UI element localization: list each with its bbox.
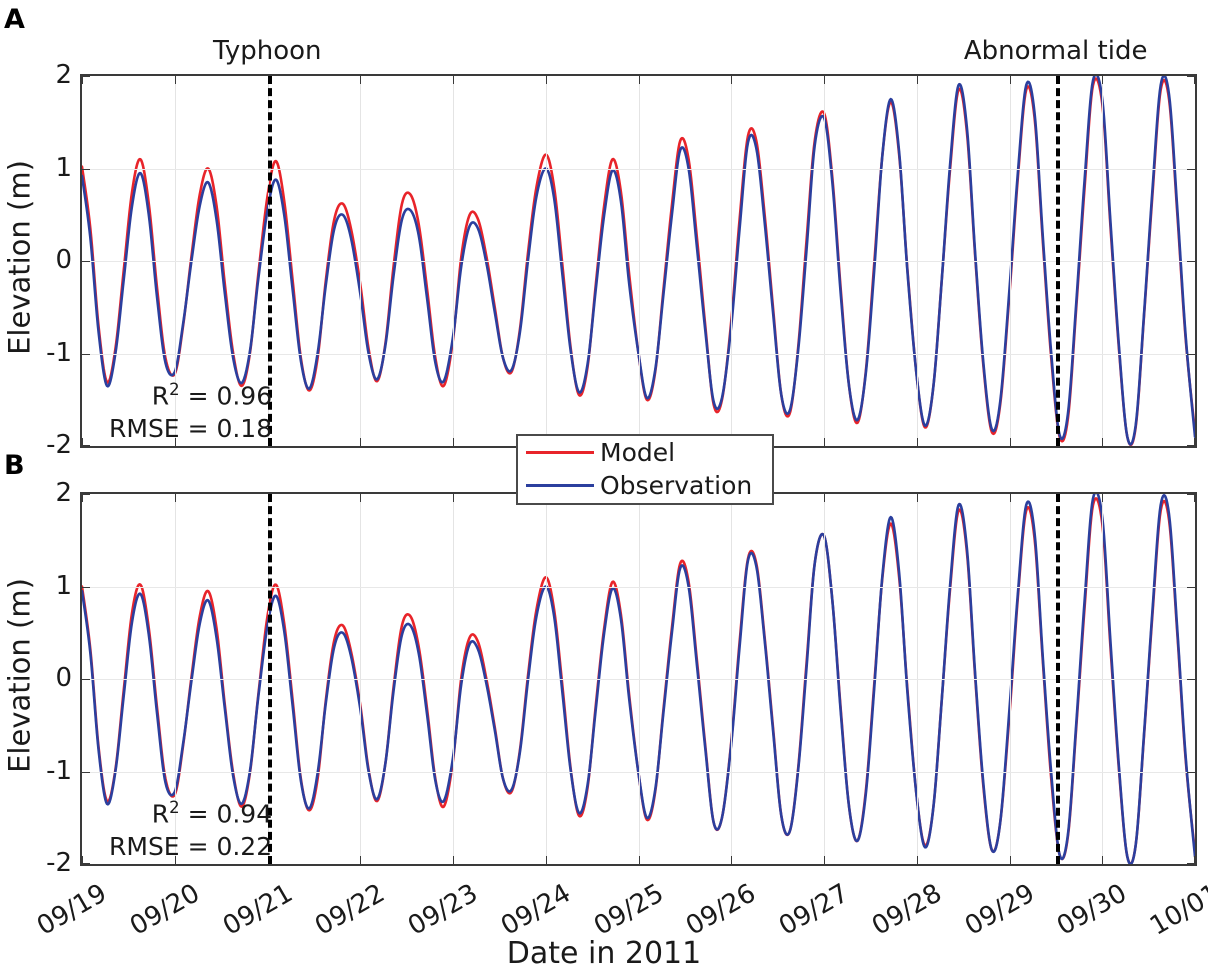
x-tick-mark-top	[824, 76, 825, 84]
panel-b-y-tick-label: 1	[4, 573, 72, 599]
panel-a-r2-exponent: 2	[169, 380, 180, 399]
x-tick-mark-bottom	[917, 856, 918, 864]
x-tick-mark-bottom	[824, 856, 825, 864]
y-gridline	[82, 679, 1195, 680]
panel-b-r2-row: R2 = 0.94	[102, 797, 272, 830]
x-tick-mark-bottom	[824, 438, 825, 446]
panel-a-y-tick-label: -1	[4, 340, 72, 366]
x-tick-mark-top	[82, 76, 83, 84]
x-tick-mark-top	[82, 494, 83, 502]
y-tick-mark-right	[1187, 354, 1195, 355]
panel-a-y-tick-label: 2	[4, 62, 72, 88]
x-tick-mark-top	[546, 76, 547, 84]
panel-letter-a: A	[4, 6, 25, 33]
x-tick-mark-bottom	[731, 856, 732, 864]
panel-a-r2-row: R2 = 0.96	[102, 379, 272, 412]
x-tick-mark-top	[175, 494, 176, 502]
y-tick-mark-left	[82, 445, 90, 446]
abnormal-tide-annotation-label: Abnormal tide	[964, 38, 1148, 64]
y-tick-mark-left	[82, 772, 90, 773]
x-tick-mark-bottom	[639, 856, 640, 864]
y-tick-mark-left	[82, 863, 90, 864]
legend-label-observation: Observation	[600, 473, 752, 498]
panel-b-rmse-row: RMSE = 0.22	[102, 831, 272, 863]
panel-a-y-tick-label: 1	[4, 155, 72, 181]
x-tick-label: 10/01	[1146, 880, 1208, 940]
y-tick-mark-left	[82, 169, 90, 170]
event-marker-line-abnormal-tide	[1056, 494, 1060, 864]
x-tick-mark-top	[639, 76, 640, 84]
x-tick-mark-bottom	[453, 438, 454, 446]
chart-legend: Model Observation	[516, 434, 774, 505]
x-tick-mark-top	[175, 76, 176, 84]
panel-a-y-tick-label: -2	[4, 432, 72, 458]
legend-label-model: Model	[600, 440, 675, 465]
y-tick-mark-right	[1187, 587, 1195, 588]
x-tick-label: 09/20	[126, 880, 204, 940]
x-tick-label: 09/21	[219, 880, 297, 940]
legend-entry-observation: Observation	[518, 469, 772, 502]
panel-a-rmse-value: = 0.18	[188, 414, 273, 443]
x-tick-label: 09/24	[497, 880, 575, 940]
x-axis-label: Date in 2011	[0, 939, 1208, 969]
panel-b-y-tick-label: -2	[4, 850, 72, 876]
y-tick-mark-right	[1187, 76, 1195, 77]
x-tick-mark-bottom	[360, 438, 361, 446]
x-tick-mark-bottom	[1102, 438, 1103, 446]
panel-b-rmse-value: = 0.22	[188, 832, 273, 861]
x-tick-mark-top	[917, 76, 918, 84]
panel-b-y-tick-label: 0	[4, 665, 72, 691]
panel-b-r2-exponent: 2	[169, 798, 180, 817]
panel-a-r2-value: = 0.96	[188, 382, 273, 411]
legend-entry-model: Model	[518, 436, 772, 469]
x-tick-mark-bottom	[546, 856, 547, 864]
panel-a-statistics: R2 = 0.96 RMSE = 0.18	[102, 379, 272, 444]
x-tick-label: 09/26	[682, 880, 760, 940]
x-tick-mark-top	[360, 494, 361, 502]
panel-b-y-tick-label: 2	[4, 480, 72, 506]
legend-swatch-model-icon	[526, 451, 594, 454]
x-tick-mark-bottom	[917, 438, 918, 446]
x-tick-mark-bottom	[1010, 438, 1011, 446]
x-tick-mark-top	[1102, 76, 1103, 84]
y-tick-mark-left	[82, 261, 90, 262]
y-tick-mark-left	[82, 494, 90, 495]
y-tick-mark-right	[1187, 863, 1195, 864]
x-tick-mark-bottom	[360, 856, 361, 864]
x-tick-mark-bottom	[1010, 856, 1011, 864]
x-tick-label: 09/30	[1053, 880, 1131, 940]
panel-a-rmse-row: RMSE = 0.18	[102, 413, 272, 445]
y-tick-mark-left	[82, 354, 90, 355]
x-tick-label: 09/28	[868, 880, 946, 940]
x-tick-mark-top	[453, 76, 454, 84]
y-tick-mark-right	[1187, 261, 1195, 262]
panel-b-rmse-label: RMSE	[109, 832, 180, 861]
x-tick-mark-bottom	[453, 856, 454, 864]
x-tick-mark-top	[1102, 494, 1103, 502]
x-tick-mark-top	[453, 494, 454, 502]
y-tick-mark-right	[1187, 679, 1195, 680]
x-tick-mark-top	[917, 494, 918, 502]
x-tick-mark-top	[824, 494, 825, 502]
y-tick-mark-left	[82, 76, 90, 77]
x-tick-mark-top	[1010, 494, 1011, 502]
panel-b-r2-value: = 0.94	[188, 800, 273, 829]
x-tick-label: 09/29	[961, 880, 1039, 940]
panel-b-r2-label: R	[152, 800, 169, 829]
y-gridline	[82, 169, 1195, 170]
y-gridline	[82, 261, 1195, 262]
x-tick-label: 09/19	[33, 880, 111, 940]
y-tick-mark-left	[82, 679, 90, 680]
panel-a-y-tick-label: 0	[4, 247, 72, 273]
event-marker-line-abnormal-tide	[1056, 76, 1060, 446]
panel-a-r2-label: R	[152, 382, 169, 411]
x-tick-mark-top	[360, 76, 361, 84]
typhoon-annotation-label: Typhoon	[213, 38, 322, 64]
x-tick-label: 09/25	[590, 880, 668, 940]
y-gridline	[82, 354, 1195, 355]
x-tick-mark-top	[731, 76, 732, 84]
y-gridline	[82, 772, 1195, 773]
x-tick-label: 09/27	[775, 880, 853, 940]
x-tick-mark-top	[1194, 76, 1195, 84]
panel-b-y-tick-label: -1	[4, 758, 72, 784]
y-tick-mark-left	[82, 587, 90, 588]
y-tick-mark-right	[1187, 772, 1195, 773]
y-tick-mark-right	[1187, 494, 1195, 495]
panel-b-statistics: R2 = 0.94 RMSE = 0.22	[102, 797, 272, 862]
x-tick-mark-top	[1010, 76, 1011, 84]
x-tick-label: 09/22	[311, 880, 389, 940]
x-tick-label: 09/23	[404, 880, 482, 940]
panel-a-rmse-label: RMSE	[109, 414, 180, 443]
x-tick-mark-bottom	[1102, 856, 1103, 864]
y-gridline	[82, 587, 1195, 588]
x-tick-mark-top	[1194, 494, 1195, 502]
y-tick-mark-right	[1187, 169, 1195, 170]
legend-swatch-observation-icon	[526, 484, 594, 487]
y-tick-mark-right	[1187, 445, 1195, 446]
